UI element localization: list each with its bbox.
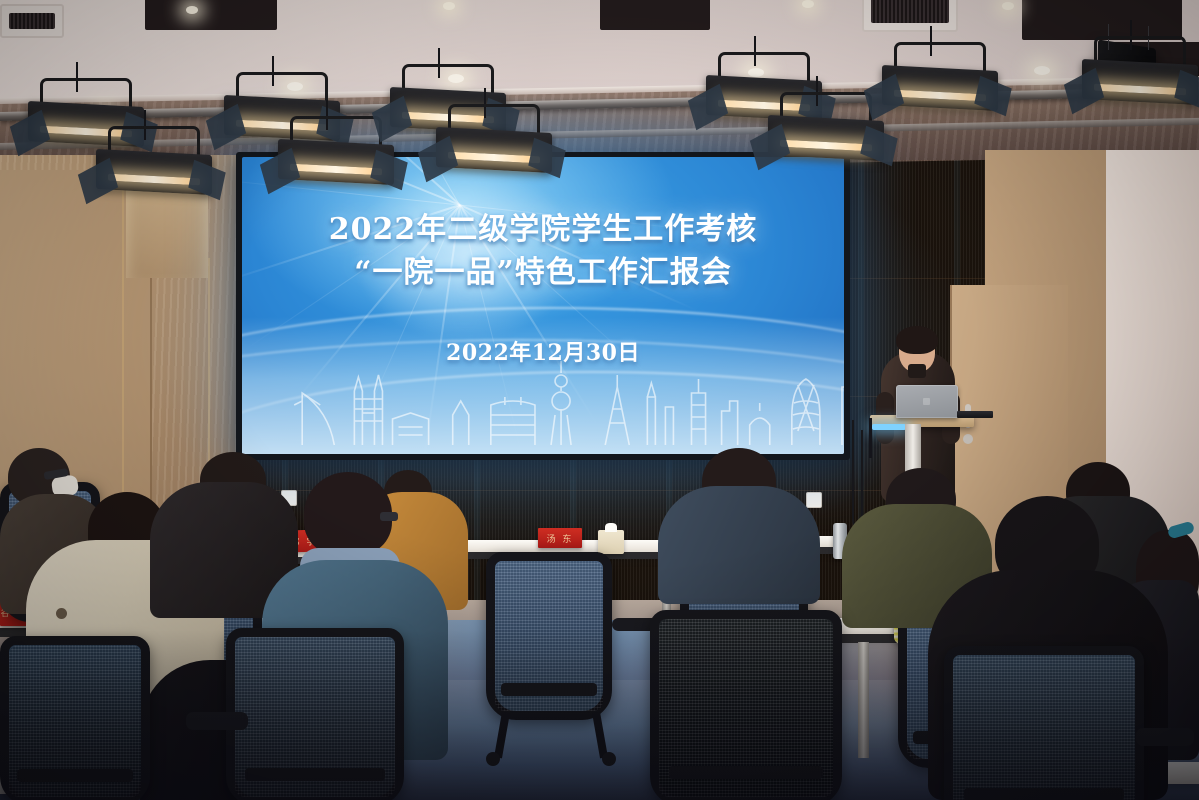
laptop-logo (923, 398, 930, 405)
chair-mesh-texture (953, 655, 1135, 800)
chair-backrest (650, 610, 842, 800)
stage-spotlight (1076, 36, 1199, 132)
chair-backrest (944, 646, 1144, 800)
ceiling-panel (1022, 0, 1182, 40)
person-torso (658, 486, 820, 604)
chair-backrest (226, 628, 404, 800)
mesh-office-chair[interactable] (226, 628, 404, 800)
podium-accent-light (872, 424, 906, 430)
stage-spotlight (90, 126, 216, 222)
chair-lumbar-support (17, 769, 133, 782)
chair-armrest (186, 712, 248, 730)
chair-lumbar-support (245, 768, 386, 781)
ceiling-downlight (443, 2, 455, 10)
presenter-neck (908, 364, 926, 378)
mesh-office-chair[interactable] (944, 646, 1144, 800)
laptop-keyboard-base[interactable] (957, 411, 993, 418)
truss-lamp (1034, 66, 1050, 75)
table-nameplate: 汤 东 (538, 528, 582, 548)
mesh-office-chair[interactable] (650, 610, 842, 800)
chair-lumbar-support (669, 766, 822, 779)
ceiling-panel (600, 0, 710, 30)
tissue-sheet (605, 523, 617, 532)
ac-ceiling-vent (0, 4, 64, 38)
chair-caster (602, 752, 616, 766)
stage-spotlight (876, 42, 1002, 138)
chair-lumbar-support (964, 788, 1124, 800)
tissue-box (598, 530, 624, 554)
table-leg (858, 642, 869, 758)
conference-room-scene: 2022年二级学院学生工作考核 “一院一品”特色工作汇报会 2022年12月30… (0, 0, 1199, 800)
presentation-date: 2022年12月30日 (242, 335, 844, 367)
chair-caster (486, 752, 500, 766)
stage-spotlight (430, 104, 556, 200)
ceiling-panel (145, 0, 277, 30)
vent-grille (9, 13, 55, 29)
ceiling-downlight (186, 6, 198, 14)
eyeglasses (380, 512, 398, 521)
presenter-hair (896, 326, 938, 354)
coat-button (56, 608, 67, 619)
vent-grille (871, 0, 949, 23)
presentation-title: 2022年二级学院学生工作考核 “一院一品”特色工作汇报会 (242, 209, 844, 294)
chair-lumbar-support (501, 683, 596, 696)
chair-backrest (486, 552, 612, 720)
mesh-office-chair[interactable] (486, 552, 612, 720)
ceiling-downlight (1002, 2, 1014, 10)
ceiling-downlight (802, 0, 814, 8)
mesh-office-chair[interactable] (0, 636, 150, 800)
nameplate-text: 汤 东 (538, 528, 582, 548)
door-lock[interactable] (963, 434, 973, 444)
presenter-laptop[interactable] (896, 385, 958, 418)
presentation-title-line1: 2022年二级学院学生工作考核 (329, 212, 758, 247)
chair-armrest (1136, 728, 1194, 746)
ac-ceiling-vent (862, 0, 958, 32)
wall-outlet[interactable] (806, 492, 822, 508)
person-head (304, 472, 392, 556)
chair-backrest (0, 636, 150, 800)
presentation-title-line2: “一院一品”特色工作汇报会 (242, 252, 844, 295)
